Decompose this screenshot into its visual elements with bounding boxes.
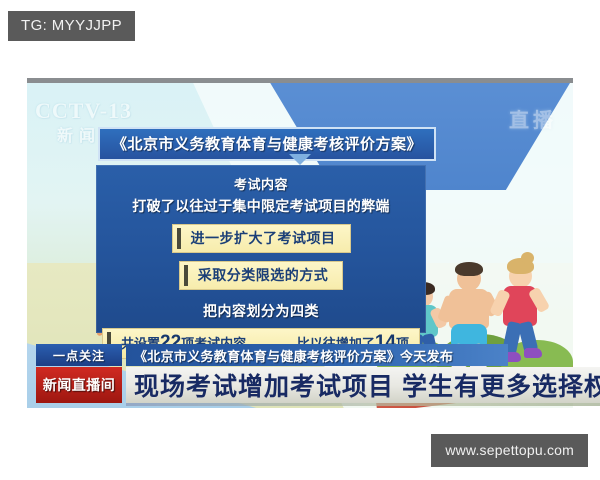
program-tag: 新闻直播间 <box>36 367 122 403</box>
lower-third-row-headline: 新闻直播间 现场考试增加考试项目 学生有更多选择权 <box>0 367 600 405</box>
focus-tag-text: 一点关注 <box>53 347 105 364</box>
focus-tag: 一点关注 <box>36 344 122 366</box>
graphic-title-text: 《北京市义务教育体育与健康考核评价方案》 <box>112 136 422 153</box>
site-watermark-badge: www.sepettopu.com <box>431 434 588 467</box>
headline-bar: 现场考试增加考试项目 学生有更多选择权 <box>126 367 600 403</box>
channel-bug-line1: CCTV-13 <box>35 98 155 124</box>
panel-bullet-1-text: 进一步扩大了考试项目 <box>191 230 336 246</box>
lower-third-row-subtitle: 一点关注 《北京市义务教育体育与健康考核评价方案》今天发布 <box>0 344 600 366</box>
graphic-title-ribbon: 《北京市义务教育体育与健康考核评价方案》 <box>98 127 436 161</box>
headline-text: 现场考试增加考试项目 学生有更多选择权 <box>134 367 600 403</box>
ghost-channel-text: 直播 <box>509 104 557 133</box>
info-panel: 考试内容 打破了以往过于集中限定考试项目的弊端 进一步扩大了考试项目 采取分类限… <box>96 165 426 333</box>
ribbon-arrow-icon <box>289 154 311 165</box>
panel-bullet-1: 进一步扩大了考试项目 <box>172 224 351 253</box>
letterbox-bar <box>27 78 573 83</box>
headline-underline <box>126 403 600 406</box>
panel-bullet-2-text: 采取分类限选的方式 <box>198 267 329 283</box>
site-watermark-text: www.sepettopu.com <box>445 442 574 458</box>
subtitle-bar: 《北京市义务教育体育与健康考核评价方案》今天发布 <box>126 344 508 366</box>
panel-heading-2: 把内容划分为四类 <box>96 301 426 321</box>
panel-bullet-2: 采取分类限选的方式 <box>179 261 344 290</box>
panel-heading: 考试内容 <box>96 174 426 193</box>
panel-subheading: 打破了以往过于集中限定考试项目的弊端 <box>96 196 426 216</box>
tg-watermark-text: TG: MYYJJPP <box>21 17 122 34</box>
program-tag-text: 新闻直播间 <box>43 375 116 395</box>
subtitle-text: 《北京市义务教育体育与健康考核评价方案》今天发布 <box>134 346 453 365</box>
tg-watermark-badge: TG: MYYJJPP <box>8 11 135 41</box>
lower-third: 一点关注 《北京市义务教育体育与健康考核评价方案》今天发布 新闻直播间 现场考试… <box>0 344 600 406</box>
